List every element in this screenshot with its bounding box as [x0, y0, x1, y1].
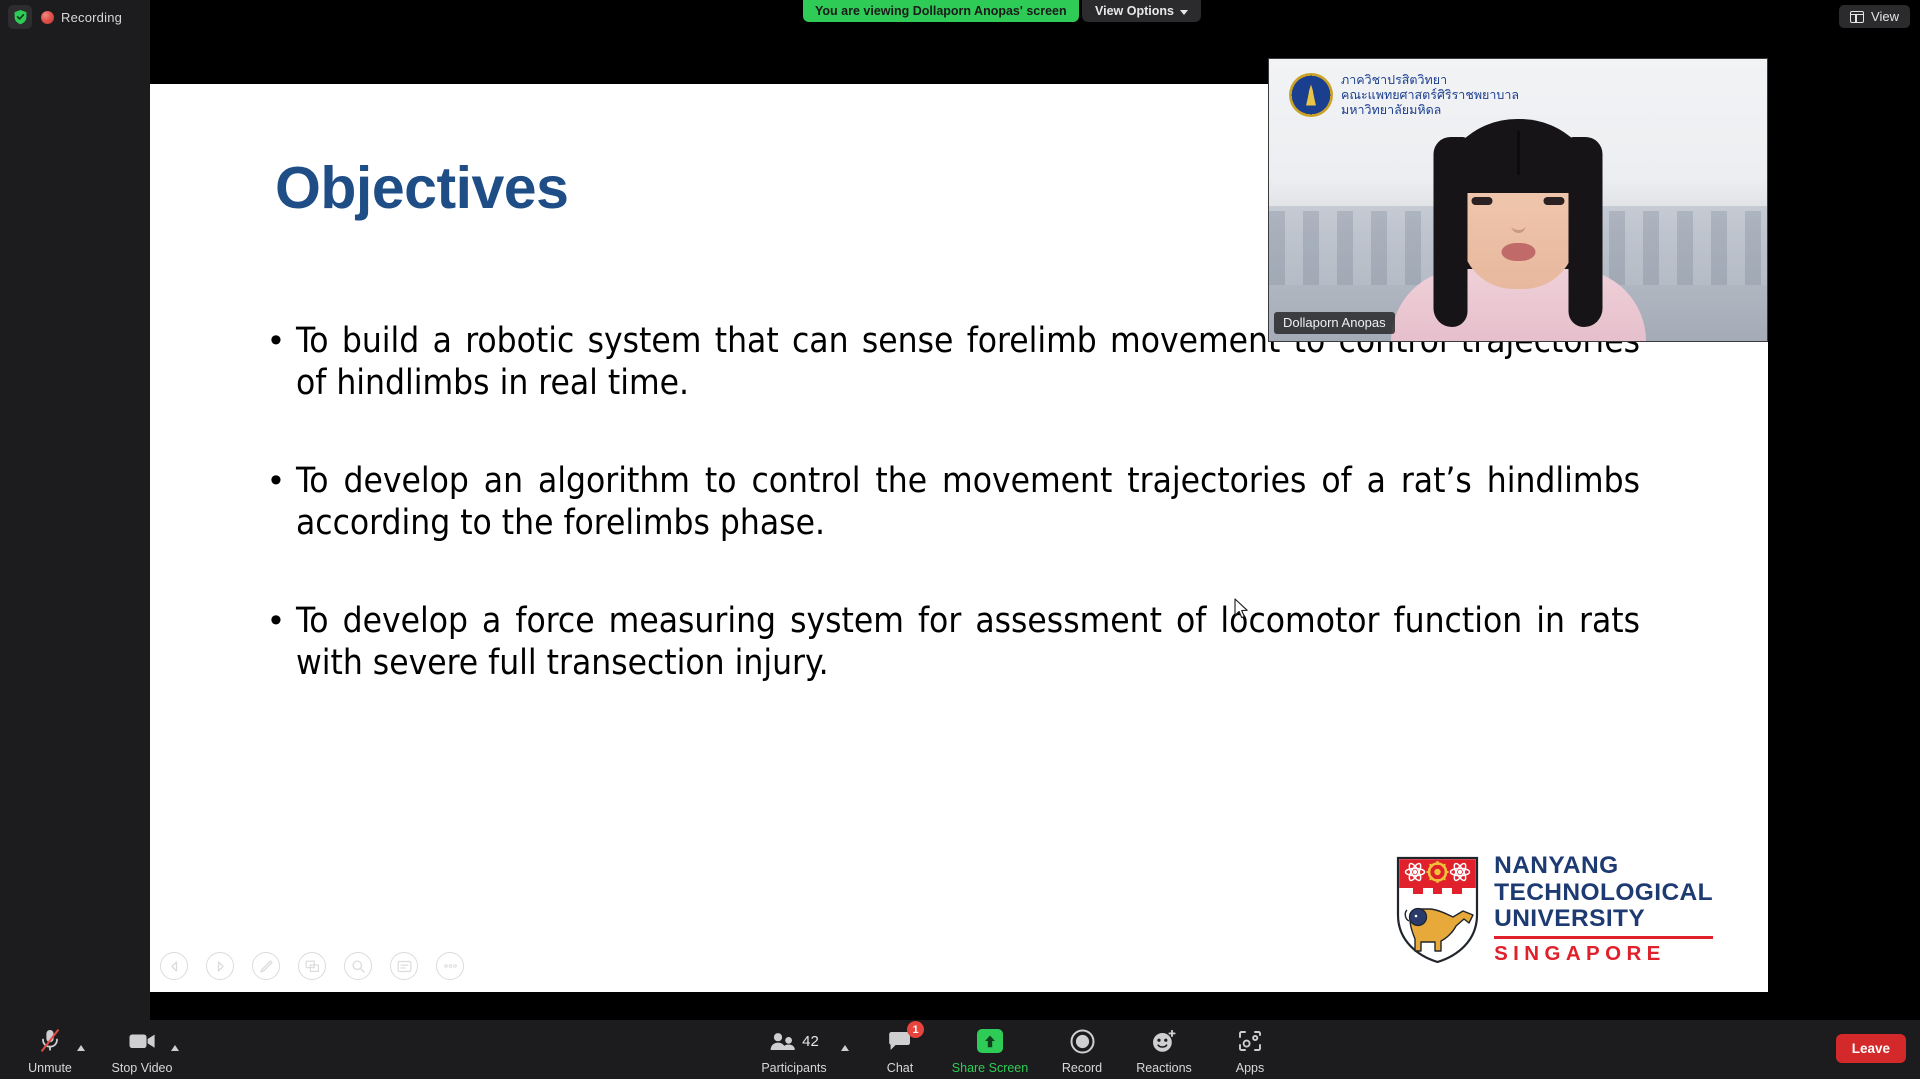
- microphone-muted-icon: [39, 1027, 61, 1055]
- record-button[interactable]: Record: [1040, 1023, 1124, 1075]
- zoom-tool-button[interactable]: [344, 952, 372, 980]
- participant-webcam-image: [1416, 113, 1621, 341]
- participant-name-label: Dollaporn Anopas: [1274, 312, 1395, 334]
- stop-video-button[interactable]: Stop Video: [100, 1023, 184, 1075]
- more-options-button[interactable]: [436, 952, 464, 980]
- bullet-text: To develop an algorithm to control the m…: [296, 460, 1640, 544]
- bullet-marker: •: [270, 600, 296, 640]
- ntu-line-3: UNIVERSITY: [1494, 906, 1713, 932]
- left-letterbox: [0, 0, 150, 1020]
- recording-label: Recording: [61, 10, 122, 25]
- participants-button[interactable]: 42 Participants: [752, 1023, 836, 1075]
- ntu-crest-icon: [1395, 855, 1480, 965]
- meeting-toolbar: Unmute Stop Video 42: [0, 1020, 1920, 1079]
- all-slides-button[interactable]: [298, 952, 326, 980]
- ntu-divider: [1494, 936, 1713, 939]
- share-screen-label: Share Screen: [952, 1061, 1028, 1075]
- reactions-label: Reactions: [1136, 1061, 1192, 1075]
- recording-indicator-group: Recording: [8, 5, 122, 29]
- bullet-text: To develop a force measuring system for …: [296, 600, 1640, 684]
- recording-status[interactable]: Recording: [41, 10, 122, 25]
- layout-grid-icon: [1850, 11, 1864, 23]
- mahidol-logo: ภาควิชาปรสิตวิทยา คณะแพทยศาสตร์ศิริราชพย…: [1289, 73, 1519, 117]
- mahidol-wordmark: ภาควิชาปรสิตวิทยา คณะแพทยศาสตร์ศิริราชพย…: [1341, 73, 1519, 117]
- video-camera-icon: [129, 1027, 156, 1055]
- zoom-meeting-window: Recording You are viewing Dollaporn Anop…: [0, 0, 1920, 1079]
- list-item: • To develop an algorithm to control the…: [270, 460, 1640, 544]
- subtitles-button[interactable]: [390, 952, 418, 980]
- view-options-label: View Options: [1095, 4, 1174, 18]
- apps-frame-icon: [1238, 1027, 1262, 1055]
- ntu-line-2: TECHNOLOGICAL: [1494, 880, 1713, 906]
- previous-slide-button[interactable]: [160, 952, 188, 980]
- share-screen-icon: [977, 1027, 1003, 1055]
- next-slide-button[interactable]: [206, 952, 234, 980]
- ntu-wordmark: NANYANG TECHNOLOGICAL UNIVERSITY SINGAPO…: [1494, 853, 1713, 966]
- share-screen-button[interactable]: Share Screen: [948, 1023, 1032, 1075]
- chat-bubble-icon: 1: [888, 1027, 912, 1055]
- apps-label: Apps: [1236, 1061, 1265, 1075]
- page-title: Objectives: [275, 154, 568, 222]
- mahidol-line-1: ภาควิชาปรสิตวิทยา: [1341, 73, 1519, 87]
- participants-label: Participants: [761, 1061, 826, 1075]
- reactions-button[interactable]: Reactions: [1122, 1023, 1206, 1075]
- mahidol-line-2: คณะแพทยศาสตร์ศิริราชพยาบาล: [1341, 88, 1519, 102]
- view-button-label: View: [1871, 9, 1899, 24]
- powerpoint-slideshow-controls: [160, 952, 464, 980]
- participants-count: 42: [802, 1033, 819, 1050]
- leave-button[interactable]: Leave: [1836, 1034, 1906, 1063]
- bullet-marker: •: [270, 460, 296, 500]
- chat-button[interactable]: 1 Chat: [858, 1023, 942, 1075]
- objectives-list: • To build a robotic system that can sen…: [270, 320, 1640, 684]
- apps-button[interactable]: Apps: [1208, 1023, 1292, 1075]
- audio-menu-caret[interactable]: [77, 1045, 85, 1051]
- bullet-marker: •: [270, 320, 296, 360]
- record-circle-icon: [1070, 1027, 1095, 1055]
- unmute-label: Unmute: [28, 1061, 72, 1075]
- chevron-down-icon: [1180, 10, 1188, 15]
- record-label: Record: [1062, 1061, 1102, 1075]
- reactions-smiley-icon: [1151, 1027, 1177, 1055]
- participants-icon: 42: [769, 1027, 819, 1055]
- participants-menu-caret[interactable]: [841, 1045, 849, 1051]
- participant-video-thumbnail[interactable]: ภาควิชาปรสิตวิทยา คณะแพทยศาสตร์ศิริราชพย…: [1268, 58, 1768, 342]
- pen-tool-button[interactable]: [252, 952, 280, 980]
- view-layout-button[interactable]: View: [1839, 5, 1910, 28]
- list-item: • To develop a force measuring system fo…: [270, 600, 1640, 684]
- chat-label: Chat: [887, 1061, 913, 1075]
- view-options-button[interactable]: View Options: [1082, 0, 1201, 22]
- ntu-line-4: SINGAPORE: [1494, 942, 1713, 966]
- chat-unread-badge: 1: [907, 1021, 924, 1038]
- ntu-line-1: NANYANG: [1494, 853, 1713, 879]
- video-menu-caret[interactable]: [171, 1045, 179, 1051]
- mahidol-seal-icon: [1289, 73, 1333, 117]
- shield-check-icon[interactable]: [8, 5, 32, 29]
- top-bar: Recording You are viewing Dollaporn Anop…: [0, 0, 1920, 34]
- unmute-button[interactable]: Unmute: [8, 1023, 92, 1075]
- ntu-logo: NANYANG TECHNOLOGICAL UNIVERSITY SINGAPO…: [1395, 853, 1713, 966]
- viewing-screen-banner: You are viewing Dollaporn Anopas' screen: [803, 0, 1079, 22]
- mouse-cursor: [1234, 598, 1250, 620]
- record-dot-icon: [41, 11, 54, 24]
- stop-video-label: Stop Video: [112, 1061, 173, 1075]
